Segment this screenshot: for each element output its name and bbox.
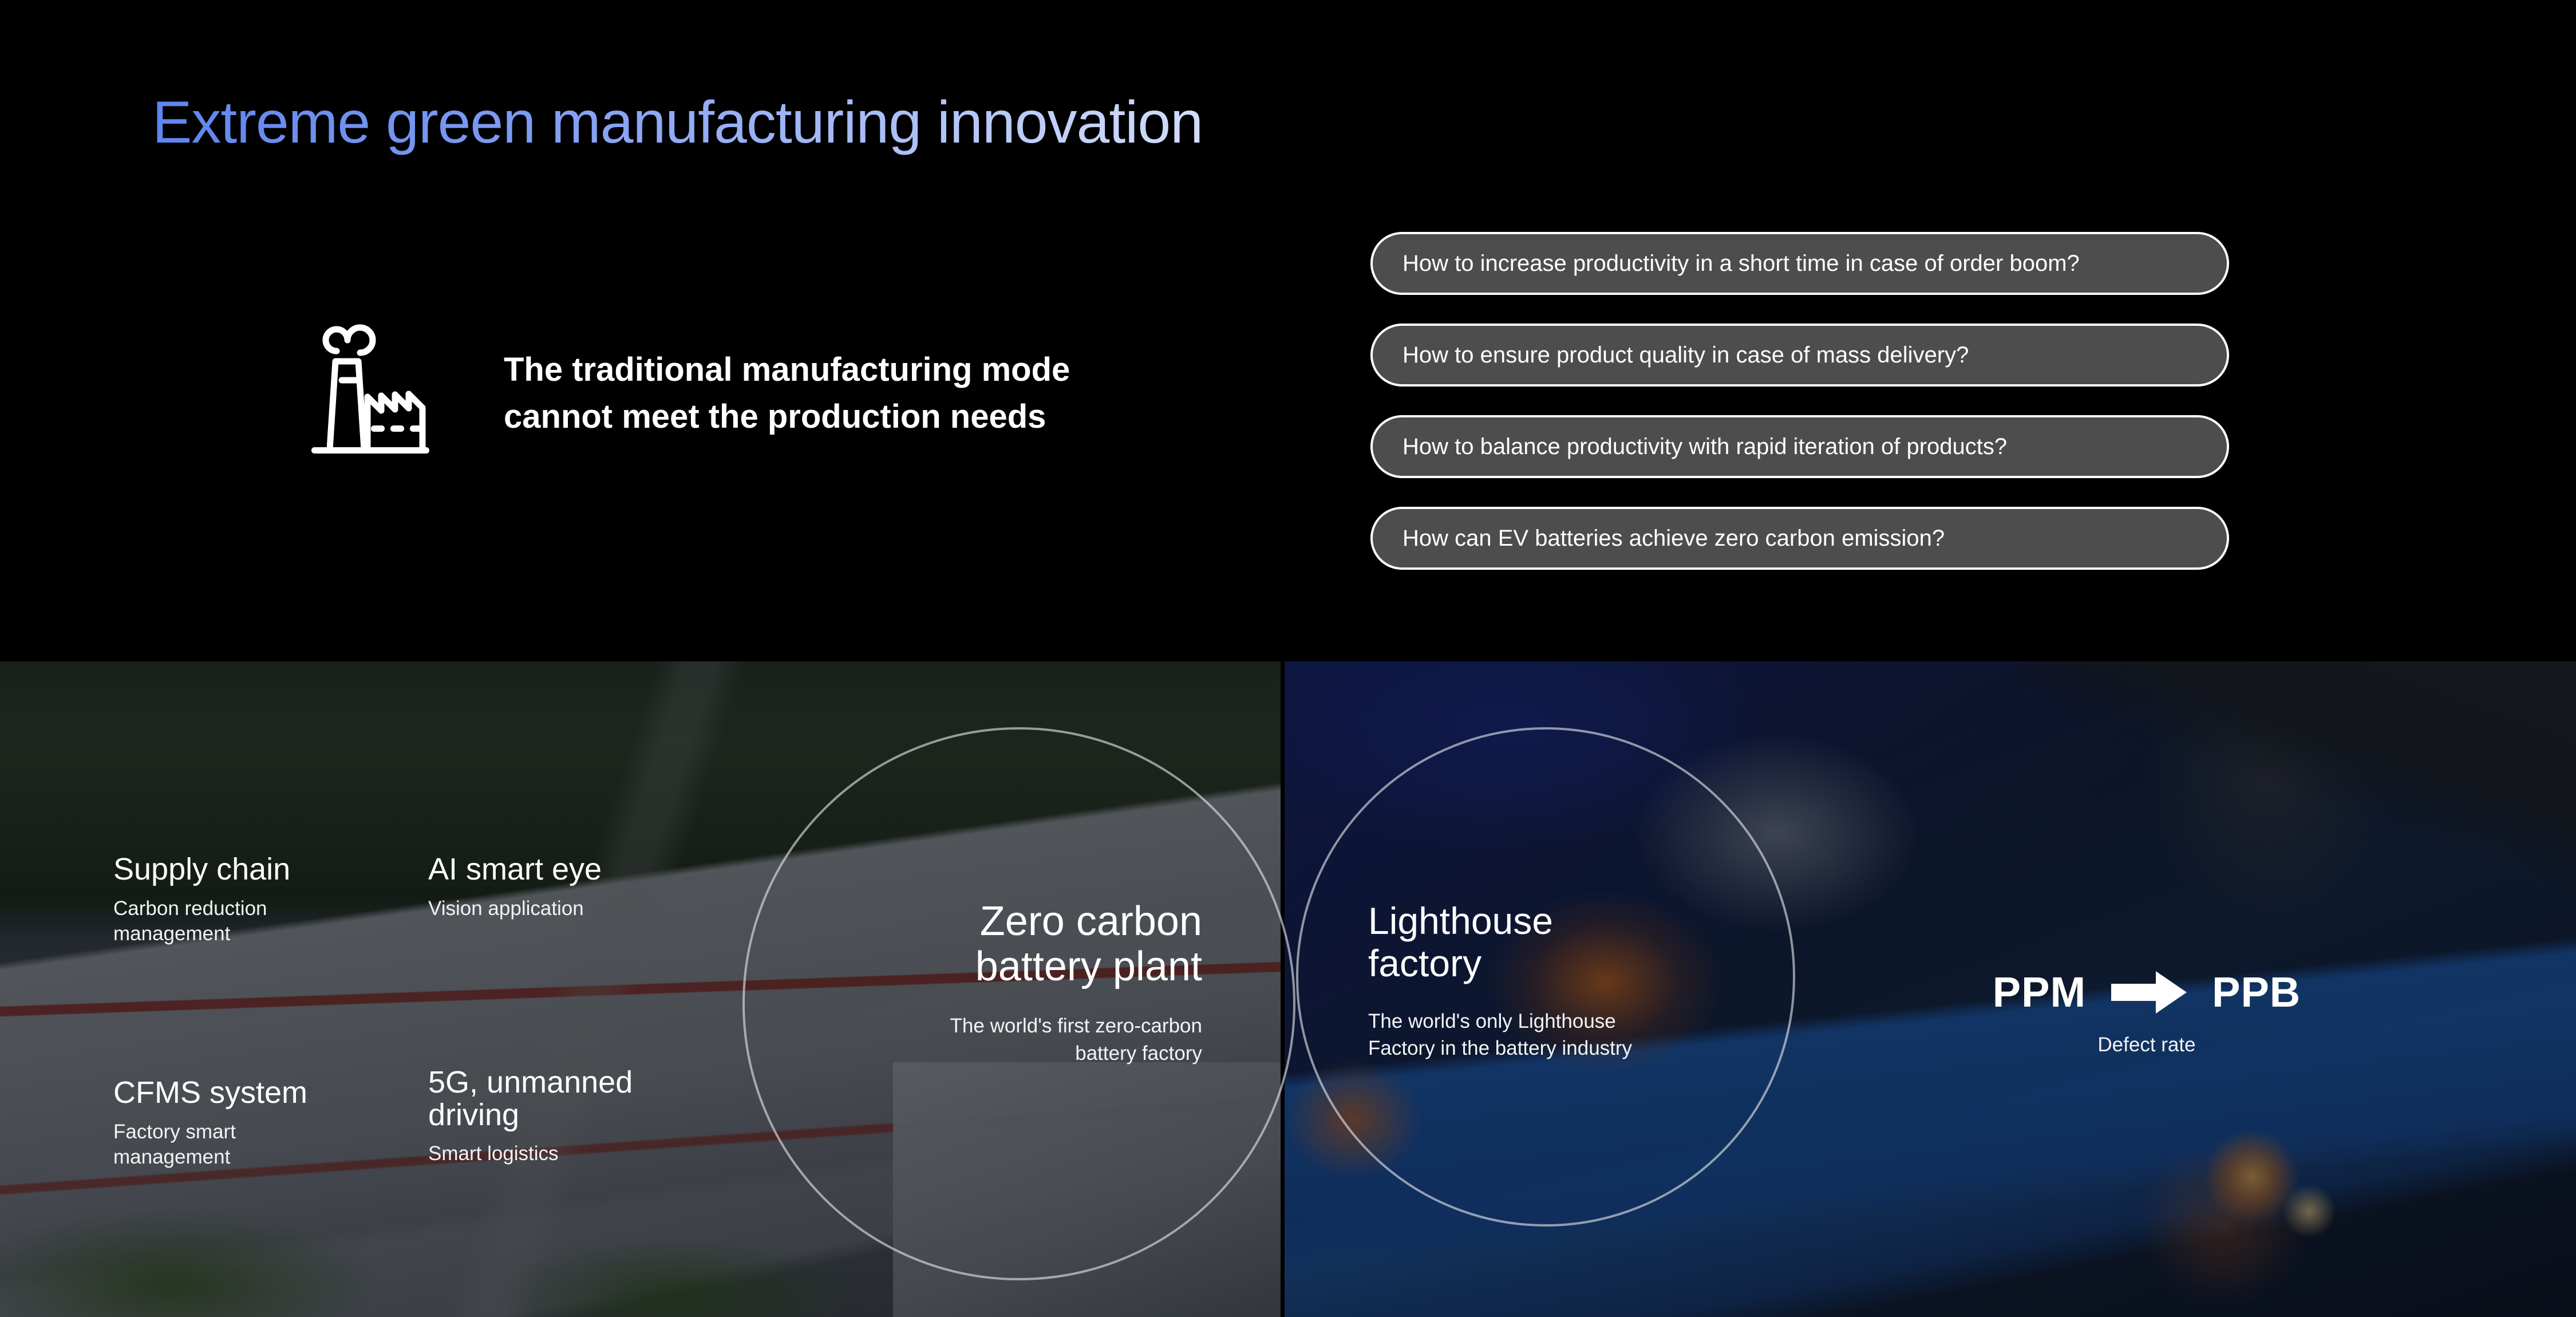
- defect-rate-from: PPM: [1993, 968, 2086, 1016]
- factory-icon: [303, 312, 435, 455]
- lighthouse-subtitle-line-2: Factory in the battery industry: [1368, 1037, 1632, 1059]
- feature-supply-chain: Supply chain Carbon reductionmanagement: [113, 853, 290, 947]
- feature-5g-unmanned-driving: 5G, unmanned driving Smart logistics: [428, 1066, 697, 1167]
- right-arrow-icon: [2111, 971, 2187, 1014]
- feature-ai-smart-eye: AI smart eye Vision application: [428, 853, 602, 921]
- lighthouse-title-line-2: factory: [1368, 942, 1481, 984]
- feature-5g-unmanned-driving-title: 5G, unmanned driving: [428, 1066, 697, 1131]
- page-title: Extreme green manufacturing innovation: [152, 89, 1203, 157]
- zero-carbon-subtitle-line-1: The world's first zero-carbon: [950, 1015, 1202, 1037]
- question-pill-2[interactable]: How to ensure product quality in case of…: [1370, 324, 2229, 387]
- feature-ai-smart-eye-subtitle: Vision application: [428, 896, 602, 922]
- defect-rate-label: Defect rate: [1935, 1034, 2358, 1056]
- question-pill-2-label: How to ensure product quality in case of…: [1402, 342, 1969, 368]
- question-pill-3-label: How to balance productivity with rapid i…: [1402, 434, 2007, 460]
- question-pill-3[interactable]: How to balance productivity with rapid i…: [1370, 415, 2229, 478]
- feature-supply-chain-title: Supply chain: [113, 853, 290, 886]
- feature-supply-chain-subtitle: Carbon reductionmanagement: [113, 896, 290, 948]
- top-section: Extreme green manufacturing innovation T…: [0, 0, 2576, 661]
- defect-rate-row: PPM PPB: [1935, 968, 2358, 1016]
- zero-carbon-title: Zero carbon battery plant: [687, 899, 1202, 989]
- lighthouse-subtitle: The world's only Lighthouse Factory in t…: [1368, 1008, 1826, 1062]
- defect-rate-to: PPB: [2212, 968, 2301, 1016]
- lead-line-2: cannot meet the production needs: [504, 393, 1277, 440]
- lighthouse-block: Lighthouse factory The world's only Ligh…: [1368, 900, 1826, 1062]
- feature-cfms-system-subtitle: Factory smartmanagement: [113, 1119, 307, 1171]
- zero-carbon-block: Zero carbon battery plant The world's fi…: [687, 899, 1202, 1067]
- question-pill-1[interactable]: How to increase productivity in a short …: [1370, 232, 2229, 295]
- lead-line-1: The traditional manufacturing mode: [504, 346, 1277, 393]
- defect-rate-block: PPM PPB Defect rate: [1935, 968, 2358, 1056]
- lighthouse-title-line-1: Lighthouse: [1368, 900, 1553, 942]
- question-pill-list: How to increase productivity in a short …: [1370, 232, 2229, 598]
- zero-carbon-subtitle-line-2: battery factory: [1075, 1042, 1202, 1064]
- slide-root: Extreme green manufacturing innovation T…: [0, 0, 2576, 1317]
- zero-carbon-title-line-2: battery plant: [975, 944, 1202, 989]
- question-pill-1-label: How to increase productivity in a short …: [1402, 251, 2080, 277]
- question-pill-4[interactable]: How can EV batteries achieve zero carbon…: [1370, 507, 2229, 570]
- feature-ai-smart-eye-title: AI smart eye: [428, 853, 602, 886]
- feature-cfms-system: CFMS system Factory smartmanagement: [113, 1077, 307, 1170]
- lighthouse-subtitle-line-1: The world's only Lighthouse: [1368, 1010, 1616, 1032]
- question-pill-4-label: How can EV batteries achieve zero carbon…: [1402, 526, 1945, 551]
- zero-carbon-subtitle: The world's first zero-carbon battery fa…: [687, 1012, 1202, 1067]
- lighthouse-title: Lighthouse factory: [1368, 900, 1826, 985]
- zero-carbon-title-line-1: Zero carbon: [980, 898, 1202, 944]
- lead-statement: The traditional manufacturing mode canno…: [504, 346, 1277, 441]
- feature-5g-unmanned-driving-subtitle: Smart logistics: [428, 1141, 697, 1167]
- feature-cfms-system-title: CFMS system: [113, 1077, 307, 1109]
